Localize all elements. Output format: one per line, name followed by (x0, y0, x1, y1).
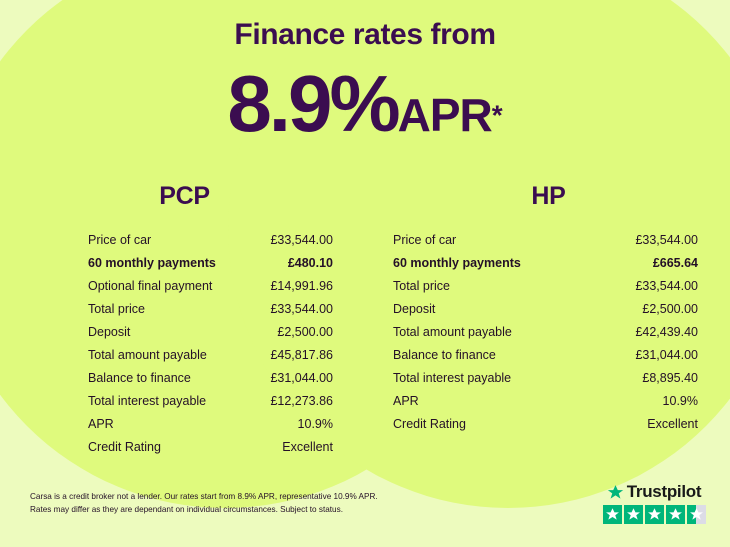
table-row: Total amount payable £45,817.86 (88, 344, 333, 367)
trustpilot-rating-stars (594, 505, 714, 524)
row-value: £8,895.40 (642, 367, 698, 390)
rate-number: 8.9% (227, 59, 397, 148)
row-label: Deposit (393, 298, 435, 321)
trustpilot-wordmark-text: Trustpilot (627, 483, 701, 501)
row-label: Credit Rating (393, 413, 466, 436)
table-row: Total price £33,544.00 (393, 275, 698, 298)
row-label: Total amount payable (88, 344, 207, 367)
table-row: Total interest payable £8,895.40 (393, 367, 698, 390)
disclaimer-line-1: Carsa is a credit broker not a lender. O… (30, 491, 470, 504)
page-title: Finance rates from (0, 18, 730, 52)
table-row: APR 10.9% (393, 390, 698, 413)
row-label: Total interest payable (88, 390, 206, 413)
row-value: £42,439.40 (635, 321, 698, 344)
finance-rates-poster: Finance rates from 8.9%APR* PCP Price of… (0, 0, 730, 547)
row-label: Balance to finance (393, 344, 496, 367)
row-value: £31,044.00 (270, 367, 333, 390)
row-value: 10.9% (298, 413, 333, 436)
row-label: Optional final payment (88, 275, 212, 298)
trustpilot-logo: Trustpilot (594, 483, 714, 501)
row-value: £14,991.96 (270, 275, 333, 298)
row-label: Price of car (88, 229, 151, 252)
row-value: £33,544.00 (635, 275, 698, 298)
table-title-hp: HP (399, 182, 698, 211)
table-row: Balance to finance £31,044.00 (88, 367, 333, 390)
table-row: Optional final payment £14,991.96 (88, 275, 333, 298)
star-icon (624, 505, 643, 524)
row-value: £45,817.86 (270, 344, 333, 367)
footnote-marker: * (492, 100, 503, 131)
table-row: Balance to finance £31,044.00 (393, 344, 698, 367)
star-icon (645, 505, 664, 524)
disclaimer-line-2: Rates may differ as they are dependant o… (30, 504, 470, 517)
table-row: Total interest payable £12,273.86 (88, 390, 333, 413)
finance-table-hp: HP Price of car £33,544.00 60 monthly pa… (365, 182, 730, 459)
table-row: Deposit £2,500.00 (393, 298, 698, 321)
row-label: APR (88, 413, 114, 436)
rate-unit: APR (398, 89, 492, 141)
half-star-icon (687, 505, 706, 524)
row-value: £33,544.00 (635, 229, 698, 252)
row-value: £31,044.00 (635, 344, 698, 367)
row-label: Total price (393, 275, 450, 298)
table-row: Price of car £33,544.00 (88, 229, 333, 252)
table-row: 60 monthly payments £665.64 (393, 252, 698, 275)
row-value: £2,500.00 (277, 321, 333, 344)
row-label: Credit Rating (88, 436, 161, 459)
table-row: 60 monthly payments £480.10 (88, 252, 333, 275)
finance-comparison: PCP Price of car £33,544.00 60 monthly p… (0, 182, 730, 459)
table-row: APR 10.9% (88, 413, 333, 436)
row-label: Price of car (393, 229, 456, 252)
row-value: 10.9% (663, 390, 698, 413)
trustpilot-star-icon (607, 484, 624, 501)
table-row: Credit Rating Excellent (393, 413, 698, 436)
table-rows-hp: Price of car £33,544.00 60 monthly payme… (393, 229, 698, 436)
table-row: Credit Rating Excellent (88, 436, 333, 459)
row-value: £12,273.86 (270, 390, 333, 413)
row-value: £665.64 (653, 252, 698, 275)
row-value: £2,500.00 (642, 298, 698, 321)
poster-content: Finance rates from 8.9%APR* PCP Price of… (0, 0, 730, 547)
trustpilot-widget[interactable]: Trustpilot (594, 483, 714, 524)
star-icon (666, 505, 685, 524)
row-label: Total interest payable (393, 367, 511, 390)
row-label: APR (393, 390, 419, 413)
row-value: Excellent (282, 436, 333, 459)
table-row: Deposit £2,500.00 (88, 321, 333, 344)
row-value: £480.10 (288, 252, 333, 275)
row-label: 60 monthly payments (393, 252, 521, 275)
row-label: Total price (88, 298, 145, 321)
table-row: Total amount payable £42,439.40 (393, 321, 698, 344)
row-value: £33,544.00 (270, 298, 333, 321)
table-row: Total price £33,544.00 (88, 298, 333, 321)
headline-rate: 8.9%APR* (0, 58, 730, 150)
table-rows-pcp: Price of car £33,544.00 60 monthly payme… (88, 229, 333, 459)
row-label: Total amount payable (393, 321, 512, 344)
row-label: 60 monthly payments (88, 252, 216, 275)
table-title-pcp: PCP (36, 182, 333, 211)
row-label: Deposit (88, 321, 130, 344)
disclaimer-text: Carsa is a credit broker not a lender. O… (30, 491, 470, 516)
row-value: Excellent (647, 413, 698, 436)
star-icon (603, 505, 622, 524)
row-value: £33,544.00 (270, 229, 333, 252)
finance-table-pcp: PCP Price of car £33,544.00 60 monthly p… (0, 182, 365, 459)
row-label: Balance to finance (88, 367, 191, 390)
table-row: Price of car £33,544.00 (393, 229, 698, 252)
